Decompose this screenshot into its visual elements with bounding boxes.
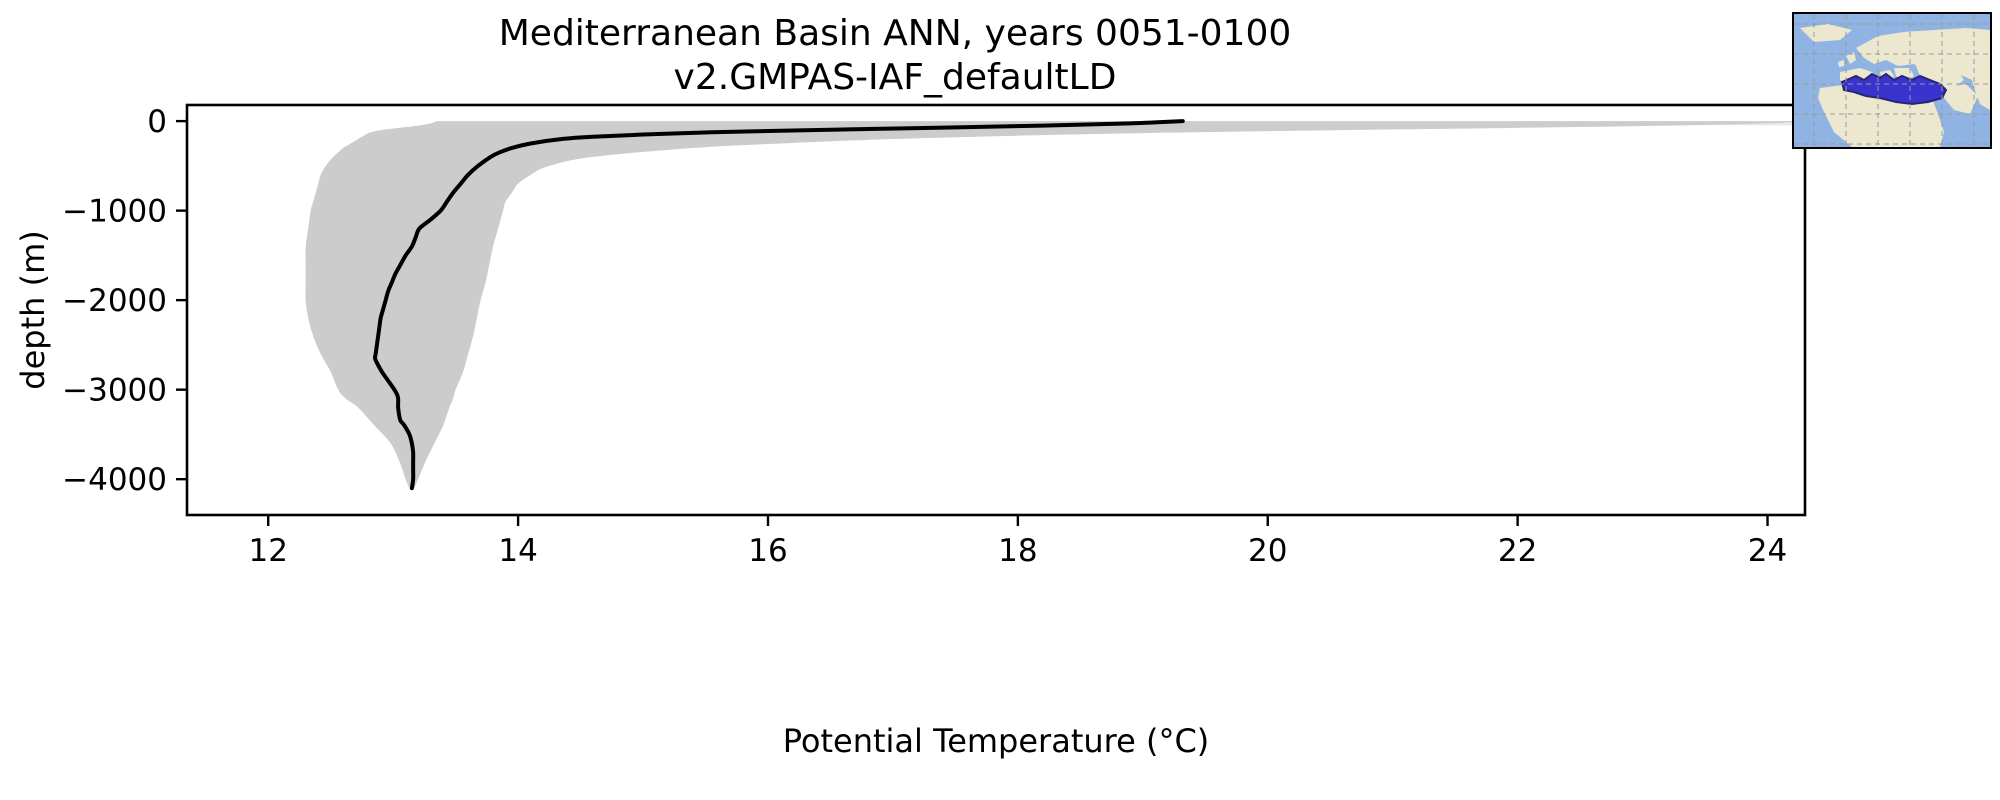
x-axis-ticks: 12141618202224: [248, 515, 1787, 569]
y-tick-label: −1000: [62, 194, 167, 230]
x-axis-title: Potential Temperature (°C): [783, 722, 1210, 760]
profile-figure: Mediterranean Basin ANN, years 0051-0100…: [0, 0, 2000, 800]
x-tick-label: 18: [998, 533, 1037, 569]
y-tick-label: −2000: [62, 283, 167, 319]
y-axis-ticks: 0−1000−2000−3000−4000: [62, 104, 187, 498]
x-tick-label: 12: [248, 533, 287, 569]
x-tick-label: 24: [1748, 533, 1787, 569]
y-axis-title: depth (m): [14, 230, 52, 389]
x-tick-label: 22: [1498, 533, 1537, 569]
plot-axes: 12141618202224 0−1000−2000−3000−4000 Pot…: [0, 0, 2000, 800]
x-tick-label: 20: [1248, 533, 1287, 569]
y-tick-label: 0: [147, 104, 167, 140]
x-tick-label: 16: [748, 533, 787, 569]
x-tick-label: 14: [498, 533, 537, 569]
inset-map-graphic: [1794, 14, 1990, 147]
region-inset-map: [1792, 12, 1992, 149]
y-tick-label: −4000: [62, 462, 167, 498]
y-tick-label: −3000: [62, 373, 167, 409]
